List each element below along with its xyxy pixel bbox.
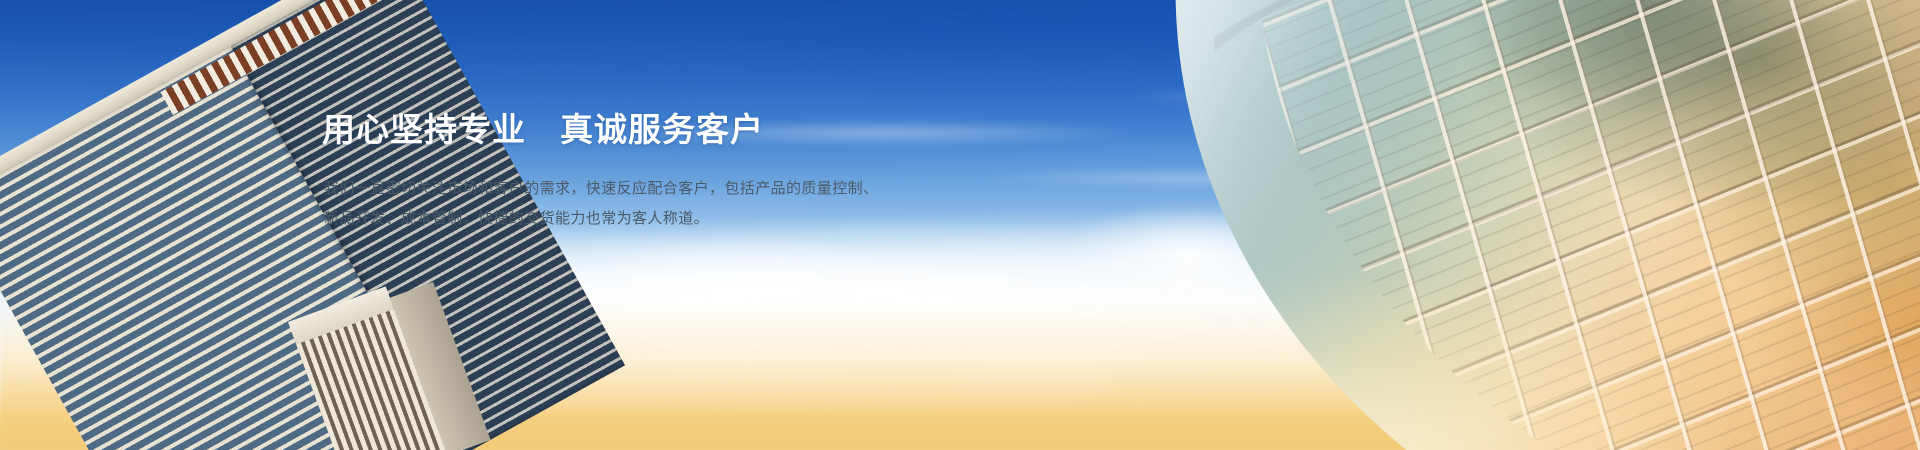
- banner-copy: 用心坚持专业 真诚服务客户 我们一直密切关注市场和客户的需求，快速反应配合客户，…: [322, 108, 962, 234]
- right-curved-glass-tower: [1070, 0, 1920, 450]
- banner-headline: 用心坚持专业 真诚服务客户: [322, 108, 962, 152]
- banner-body-text: 我们一直密切关注市场和客户的需求，快速反应配合客户，包括产品的质量控制、 新品开…: [324, 174, 962, 234]
- glass-tower-curved-edge: [1070, 0, 1920, 450]
- hero-banner: 用心坚持专业 真诚服务客户 我们一直密切关注市场和客户的需求，快速反应配合客户，…: [0, 0, 1920, 450]
- banner-body-line-1: 我们一直密切关注市场和客户的需求，快速反应配合客户，包括产品的质量控制、: [324, 174, 962, 204]
- banner-body-line-2: 新品开发、成本管制，快捷的交货能力也常为客人称道。: [324, 204, 962, 234]
